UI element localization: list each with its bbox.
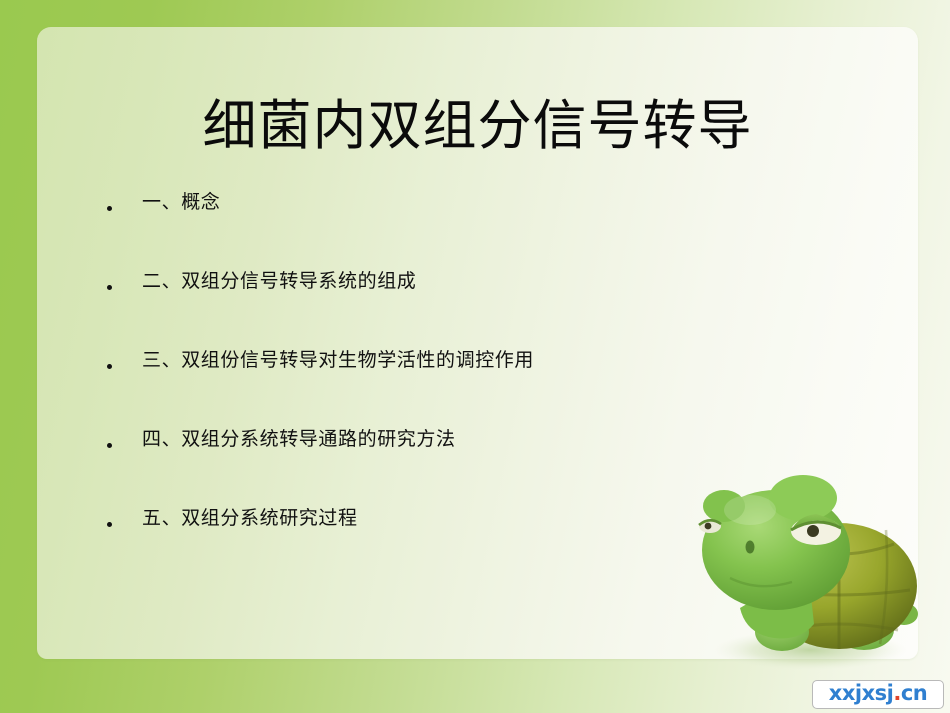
- agenda-item-label: 二、双组分信号转导系统的组成: [142, 240, 416, 291]
- agenda-item-label: 一、概念: [142, 161, 220, 212]
- turtle-eye-left: [699, 519, 721, 533]
- watermark-dot: .: [893, 681, 900, 705]
- bullet-icon: [107, 285, 112, 290]
- turtle-nostril: [746, 541, 755, 554]
- bullet-icon: [107, 206, 112, 211]
- watermark-tld: cn: [901, 681, 927, 705]
- bullet-icon: [107, 522, 112, 527]
- turtle-brow-right: [769, 475, 837, 521]
- agenda-item-label: 四、双组分系统转导通路的研究方法: [142, 398, 456, 449]
- bullet-icon: [107, 364, 112, 369]
- bullet-icon: [107, 443, 112, 448]
- agenda-item-2[interactable]: 二、双组分信号转导系统的组成: [100, 240, 878, 319]
- agenda-item-label: 三、双组份信号转导对生物学活性的调控作用: [142, 319, 534, 370]
- agenda-item-1[interactable]: 一、概念: [100, 161, 878, 240]
- watermark-prefix: xxjxsj: [829, 681, 894, 705]
- watermark-label: xxjxsj.cn: [829, 683, 927, 704]
- site-watermark: xxjxsj.cn: [812, 680, 944, 709]
- slide-title: 细菌内双组分信号转导: [37, 97, 918, 155]
- turtle-mascot-icon: [688, 458, 933, 673]
- slide-canvas: 细菌内双组分信号转导 一、概念 二、双组分信号转导系统的组成 三、双组份信号转导…: [0, 0, 950, 713]
- agenda-item-3[interactable]: 三、双组份信号转导对生物学活性的调控作用: [100, 319, 878, 398]
- agenda-item-label: 五、双组分系统研究过程: [142, 477, 358, 528]
